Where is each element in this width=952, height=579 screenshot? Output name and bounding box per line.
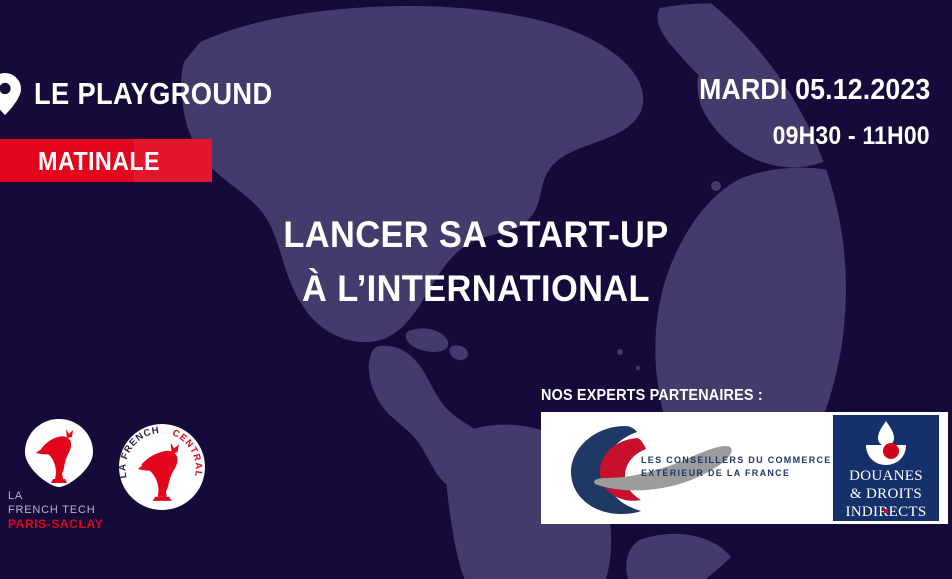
ft-saclay-line-2: FRENCH TECH bbox=[8, 503, 103, 517]
ft-saclay-line-3: PARIS-SACLAY bbox=[8, 517, 103, 531]
event-poster: LE PLAYGROUND MATINALE MARDI 05.12.2023 … bbox=[0, 0, 952, 579]
headline-line-2: À L’INTERNATIONAL bbox=[33, 262, 918, 316]
event-headline: LANCER SA START-UP À L’INTERNATIONAL bbox=[0, 208, 952, 316]
la-french-tech-central-logo: LA FRENCH TECH CENTRAL bbox=[118, 423, 206, 511]
venue-title: LE PLAYGROUND bbox=[34, 75, 273, 113]
map-pin-icon bbox=[0, 72, 22, 116]
douanes-dot-icon bbox=[884, 509, 888, 513]
douanes-logo: DOUANES & DROITS INDIRECTS bbox=[833, 415, 939, 521]
cce-text-line-2: EXTÉRIEUR DE LA FRANCE bbox=[641, 467, 832, 480]
french-tech-saclay-wordmark: LA FRENCH TECH PARIS-SACLAY bbox=[8, 489, 103, 531]
la-french-tech-paris-saclay-logo: LA FRENCH TECH PARIS-SACLAY bbox=[6, 417, 114, 532]
cce-text-line-1: LES CONSEILLERS DU COMMERCE bbox=[641, 454, 832, 467]
partners-panel: LES CONSEILLERS DU COMMERCE EXTÉRIEUR DE… bbox=[541, 412, 948, 524]
cce-logo-text: LES CONSEILLERS DU COMMERCE EXTÉRIEUR DE… bbox=[641, 454, 832, 480]
headline-line-1: LANCER SA START-UP bbox=[33, 208, 918, 262]
douanes-flame-icon bbox=[833, 415, 939, 467]
matinale-label: MATINALE bbox=[38, 145, 160, 177]
douanes-text-line-2: & DROITS bbox=[833, 485, 939, 503]
douanes-text-line-1: DOUANES bbox=[833, 467, 939, 485]
ft-saclay-line-1: LA bbox=[8, 489, 103, 503]
event-date: MARDI 05.12.2023 bbox=[699, 73, 930, 108]
partners-label: NOS EXPERTS PARTENAIRES : bbox=[541, 386, 763, 406]
french-tech-pin-icon bbox=[6, 417, 114, 489]
event-time: 09H30 - 11H00 bbox=[773, 121, 930, 152]
